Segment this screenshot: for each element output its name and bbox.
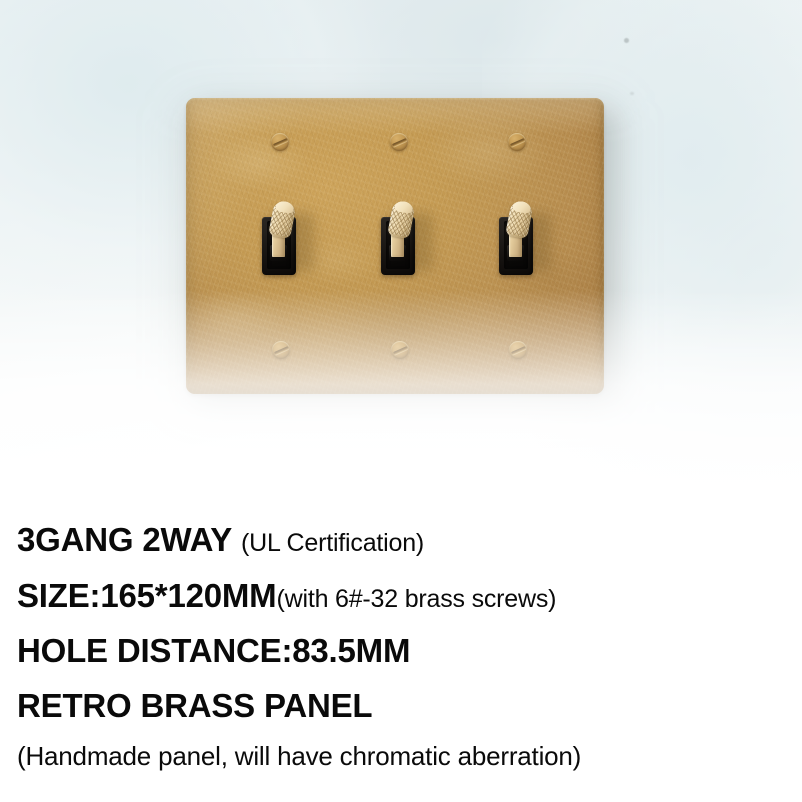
spec-size-value: SIZE:165*120MM — [17, 577, 276, 614]
toggle-switch-2[interactable] — [381, 201, 415, 275]
spec-line-panel-name: RETRO BRASS PANEL — [17, 687, 372, 725]
product-image-page: 3GANG 2WAY(UL Certification) SIZE:165*12… — [0, 0, 802, 802]
spec-certification-note: (UL Certification) — [241, 529, 424, 557]
background-speck — [624, 38, 629, 43]
toggle-lever-2[interactable] — [387, 201, 409, 257]
spec-line-hole-distance: HOLE DISTANCE:83.5MM — [17, 632, 410, 670]
toggle-switch-3[interactable] — [499, 201, 533, 275]
background-speck-secondary — [630, 92, 634, 95]
brass-screw-top-right — [508, 133, 526, 151]
spec-line-size: SIZE:165*120MM(with 6#-32 brass screws) — [17, 577, 556, 615]
brass-screw-top-left — [271, 133, 289, 151]
product-photo — [0, 0, 802, 500]
toggle-lever-3[interactable] — [505, 201, 527, 257]
brass-screw-top-center — [390, 133, 408, 151]
spec-gang-way-value: 3GANG 2WAY — [17, 521, 232, 558]
toggle-lever-1[interactable] — [268, 201, 290, 257]
photo-fade-to-white — [0, 290, 802, 500]
spec-screws-note: (with 6#-32 brass screws) — [276, 585, 556, 613]
toggle-switch-1[interactable] — [262, 201, 296, 275]
spec-line-handmade-disclaimer: (Handmade panel, will have chromatic abe… — [17, 741, 581, 772]
spec-line-gang-way: 3GANG 2WAY(UL Certification) — [17, 521, 424, 559]
